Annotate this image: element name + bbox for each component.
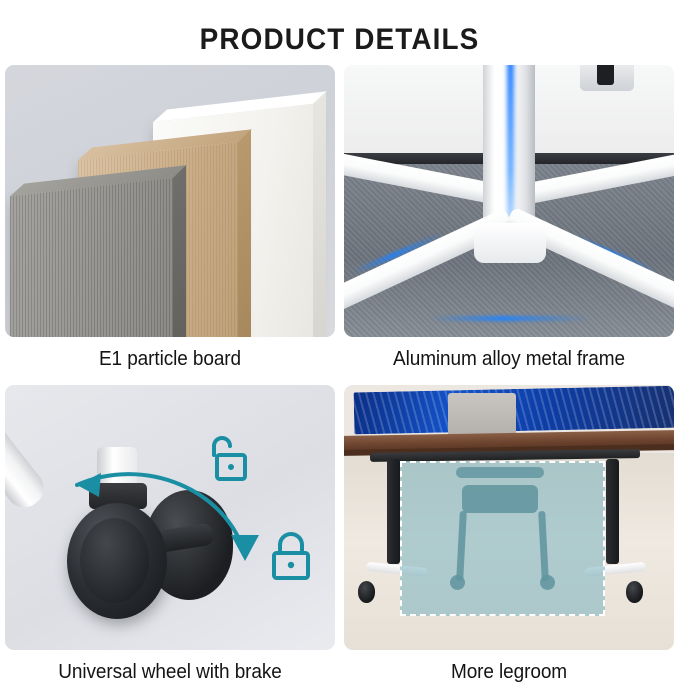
unlock-icon — [203, 433, 251, 485]
monitor-foot — [580, 65, 634, 91]
panel-more-legroom: More legroom — [344, 385, 674, 690]
particle-board-image — [5, 65, 335, 337]
caption-universal-wheel: Universal wheel with brake — [13, 650, 327, 683]
desk-caster-right — [626, 581, 643, 603]
legroom-highlight-area — [400, 461, 605, 616]
product-details-grid: E1 particle board Aluminum alloy metal f… — [5, 65, 674, 690]
panel-particle-board: E1 particle board — [5, 65, 335, 370]
desk-caster-left — [358, 581, 375, 603]
desk-leg-right — [606, 459, 619, 564]
oak-board-side — [238, 130, 251, 338]
universal-wheel-image — [5, 385, 335, 650]
caption-particle-board: E1 particle board — [13, 337, 327, 370]
caption-more-legroom: More legroom — [352, 650, 666, 683]
blue-glow-streak-front — [430, 316, 590, 321]
caption-aluminum-frame: Aluminum alloy metal frame — [352, 337, 666, 370]
lock-icon — [267, 531, 315, 583]
page-title: PRODUCT DETAILS — [24, 20, 655, 55]
curved-double-arrow — [5, 385, 335, 650]
panel-aluminum-frame: Aluminum alloy metal frame — [344, 65, 674, 370]
aluminum-frame-image — [344, 65, 674, 337]
gray-board-face — [10, 178, 173, 337]
laptop — [448, 393, 516, 437]
desk-leg-left — [387, 459, 400, 564]
more-legroom-image — [344, 385, 674, 650]
panel-universal-wheel: Universal wheel with brake — [5, 385, 335, 690]
white-board-side — [313, 92, 326, 338]
gray-board — [10, 178, 173, 337]
gray-board-side — [173, 165, 186, 337]
frame-junction-hub — [474, 223, 546, 263]
